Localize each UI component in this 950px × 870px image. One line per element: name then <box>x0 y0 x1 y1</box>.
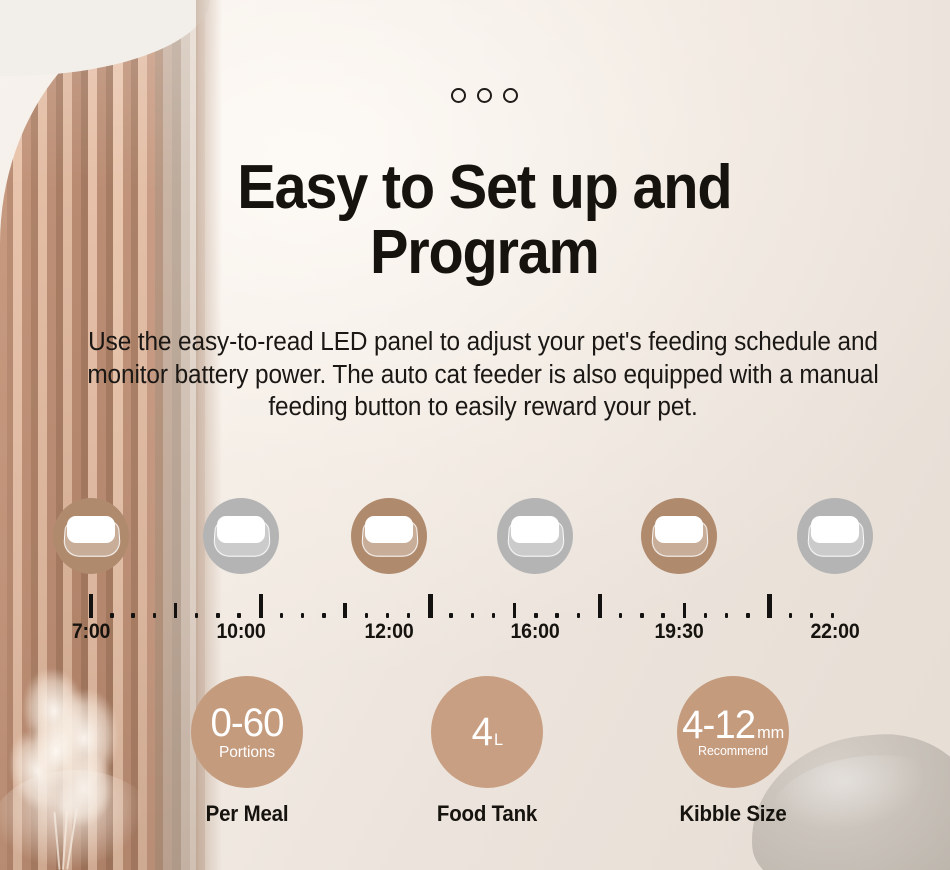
ruler-tick-minor <box>195 613 198 618</box>
feeding-slot-22-00[interactable] <box>797 498 873 574</box>
spec-subtext: Portions <box>219 744 275 761</box>
pet-feeder-bowl-icon <box>361 516 417 556</box>
ruler-tick-minor <box>471 613 474 618</box>
page-title: Easy to Set up and Program <box>33 158 917 284</box>
ruler-tick-minor <box>746 613 749 618</box>
ruler-tick-major <box>89 594 93 618</box>
ruler-tick-minor <box>492 613 495 618</box>
spec-caption: Per Meal <box>154 801 340 827</box>
spec-circle: 0-60Portions <box>191 676 303 788</box>
ruler-tick-minor <box>322 613 325 618</box>
spec-value: 0-60 <box>210 703 283 743</box>
ruler-tick-minor <box>131 613 134 618</box>
ruler-tick-minor <box>810 613 813 618</box>
ruler-tick-minor <box>365 613 368 618</box>
spec-value: 4-12mm <box>682 705 784 745</box>
ruler-tick-minor <box>386 613 389 618</box>
feeding-slot-19-30[interactable] <box>641 498 717 574</box>
spec-value: 4L <box>471 712 502 752</box>
spec-unit: mm <box>757 724 784 741</box>
feeder-icon-row <box>0 498 950 586</box>
circle-outline-icon <box>503 88 518 103</box>
page-title-line-2: Program <box>52 223 917 284</box>
ruler-tick-minor <box>301 613 304 618</box>
time-label-19-30: 19:30 <box>654 620 703 644</box>
timeline-time-labels: 7:0010:0012:0016:0019:3022:00 <box>0 620 950 650</box>
decorative-dots <box>0 88 950 103</box>
spec-caption: Food Tank <box>394 801 580 827</box>
ruler-tick-minor <box>449 613 452 618</box>
ruler-tick-major <box>259 594 263 618</box>
feeding-slot-16-00[interactable] <box>497 498 573 574</box>
circle-outline-icon <box>451 88 466 103</box>
spec-stats-row: 0-60PortionsPer Meal4LFood Tank4-12mmRec… <box>0 676 950 846</box>
ruler-tick-minor <box>619 613 622 618</box>
ruler-tick-minor <box>661 613 664 618</box>
ruler-tick-minor <box>577 613 580 618</box>
ruler-tick-major <box>598 594 602 618</box>
time-label-10-00: 10:00 <box>216 620 265 644</box>
ruler-tick-minor <box>725 613 728 618</box>
ruler-tick-minor <box>407 613 410 618</box>
spec-subtext: Recommend <box>698 745 768 759</box>
feeding-schedule-timeline: 7:0010:0012:0016:0019:3022:00 <box>0 498 950 658</box>
ruler-tick-minor <box>153 613 156 618</box>
ruler-tick-major <box>428 594 432 618</box>
pet-feeder-bowl-icon <box>63 516 119 556</box>
ruler-tick-minor <box>555 613 558 618</box>
ruler-tick-mid <box>174 603 177 618</box>
timeline-ruler <box>0 592 950 618</box>
spec-food-tank: 4LFood Tank <box>387 676 587 827</box>
pet-feeder-bowl-icon <box>507 516 563 556</box>
pet-feeder-bowl-icon <box>213 516 269 556</box>
ruler-tick-minor <box>237 613 240 618</box>
feeding-slot-10-00[interactable] <box>203 498 279 574</box>
ruler-tick-mid <box>343 603 346 618</box>
description-paragraph: Use the easy-to-read LED panel to adjust… <box>68 326 899 424</box>
circle-outline-icon <box>477 88 492 103</box>
ruler-tick-minor <box>704 613 707 618</box>
ruler-tick-minor <box>831 613 834 618</box>
pet-feeder-bowl-icon <box>651 516 707 556</box>
time-label-7-00: 7:00 <box>72 620 110 644</box>
ruler-tick-minor <box>640 613 643 618</box>
ruler-tick-minor <box>789 613 792 618</box>
feeding-slot-12-00[interactable] <box>351 498 427 574</box>
spec-per-meal: 0-60PortionsPer Meal <box>147 676 347 827</box>
ruler-tick-minor <box>280 613 283 618</box>
time-label-16-00: 16:00 <box>510 620 559 644</box>
product-feature-banner: Easy to Set up and Program Use the easy-… <box>0 0 950 870</box>
spec-kibble-size: 4-12mmRecommendKibble Size <box>633 676 833 827</box>
spec-caption: Kibble Size <box>640 801 826 827</box>
ruler-tick-major <box>767 594 771 618</box>
spec-unit: L <box>494 731 503 748</box>
page-title-line-1: Easy to Set up and <box>237 153 731 222</box>
spec-circle: 4L <box>431 676 543 788</box>
spec-circle: 4-12mmRecommend <box>677 676 789 788</box>
time-label-22-00: 22:00 <box>810 620 859 644</box>
pet-feeder-bowl-icon <box>807 516 863 556</box>
time-label-12-00: 12:00 <box>364 620 413 644</box>
feeding-slot-7-00[interactable] <box>53 498 129 574</box>
ruler-tick-minor <box>216 613 219 618</box>
ruler-tick-mid <box>683 603 686 618</box>
ruler-tick-minor <box>110 613 113 618</box>
ruler-tick-minor <box>534 613 537 618</box>
ruler-tick-mid <box>513 603 516 618</box>
